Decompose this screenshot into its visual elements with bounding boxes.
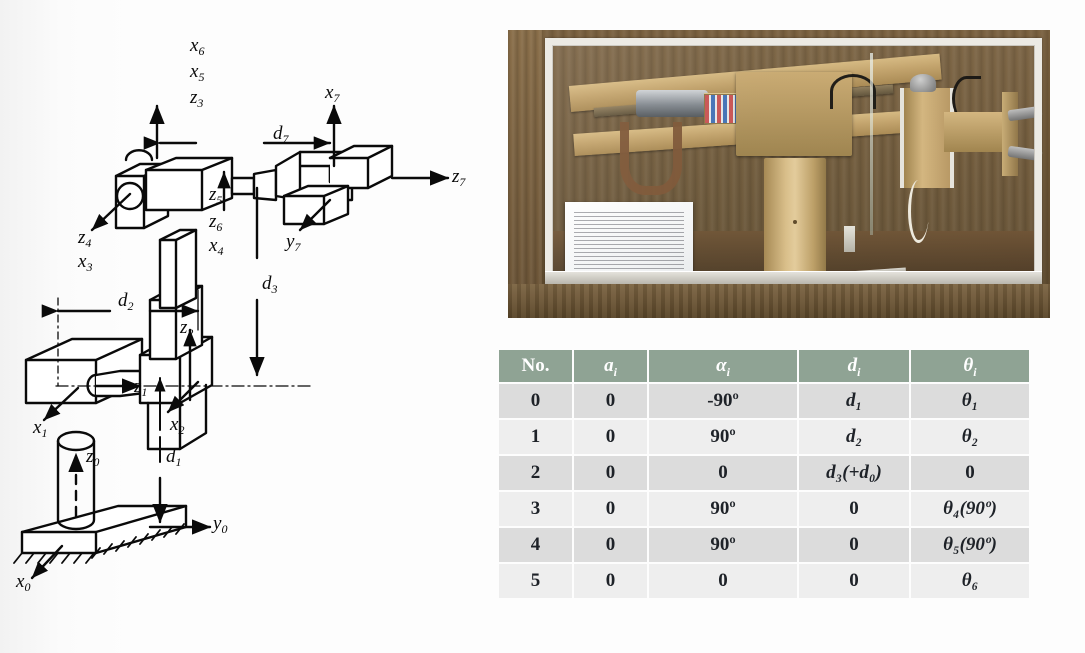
dimension-label-d2: d2 (118, 291, 134, 310)
cell-theta: θ₅(90º) (911, 528, 1029, 562)
cell-alpha: 0 (649, 564, 797, 598)
cell-d: 0 (799, 492, 909, 526)
axis-label-x5: x5 (190, 62, 204, 81)
table-row: 2 0 0 d₃(+d₀) 0 (499, 456, 1029, 490)
cell-d: d₃(+d₀) (799, 456, 909, 490)
axis-label-z4: z4 (78, 228, 91, 247)
cell-d: 0 (799, 528, 909, 562)
table-row: 3 0 90º 0 θ₄(90º) (499, 492, 1029, 526)
cell-no: 1 (499, 420, 572, 454)
kinematic-diagram: x6 x5 z3 d7 x7 z7 y7 z5 z6 x4 z4 x3 d3 d… (0, 0, 470, 653)
cell-alpha: 90º (649, 528, 797, 562)
axis-label-z6: z6 (209, 212, 222, 231)
cell-theta: θ₂ (911, 420, 1029, 454)
axis-label-x6: x6 (190, 36, 204, 55)
stanford-arm-museum-photo: 1969 (508, 30, 1050, 318)
dimension-label-d1: d1 (166, 447, 182, 466)
cell-a: 0 (574, 528, 647, 562)
column-header-no: No. (499, 350, 572, 382)
axis-label-z3: z3 (190, 88, 203, 107)
table-body: 0 0 -90º d₁ θ₁ 1 0 90º d₂ θ₂ 2 0 0 d₃(+d… (499, 384, 1029, 598)
figure-page: x6 x5 z3 d7 x7 z7 y7 z5 z6 x4 z4 x3 d3 d… (0, 0, 1085, 653)
column-header-a: ai (574, 350, 647, 382)
cell-no: 0 (499, 384, 572, 418)
dimension-label-d7: d7 (273, 124, 289, 143)
table-row: 4 0 90º 0 θ₅(90º) (499, 528, 1029, 562)
cell-no: 4 (499, 528, 572, 562)
cell-alpha: 90º (649, 420, 797, 454)
axis-label-x2: x2 (170, 415, 184, 434)
table-row: 0 0 -90º d₁ θ₁ (499, 384, 1029, 418)
axis-label-z0: z0 (86, 447, 99, 466)
cell-d: d₂ (799, 420, 909, 454)
axis-label-x7: x7 (325, 83, 339, 102)
cell-d: 0 (799, 564, 909, 598)
axis-label-z1: z1 (134, 377, 147, 396)
cell-a: 0 (574, 456, 647, 490)
cell-a: 0 (574, 492, 647, 526)
cell-alpha: -90º (649, 384, 797, 418)
denavit-hartenberg-parameter-table: No. ai αi di θi 0 0 -90º d₁ θ₁ 1 0 90º d… (497, 348, 1031, 600)
axis-label-x0: x0 (16, 572, 30, 591)
column-header-theta: θi (911, 350, 1029, 382)
cell-no: 2 (499, 456, 572, 490)
cell-alpha: 0 (649, 456, 797, 490)
axis-label-x3: x3 (78, 252, 92, 271)
glass-panel-divider (870, 53, 873, 235)
cell-no: 5 (499, 564, 572, 598)
table-header-row: No. ai αi di θi (499, 350, 1029, 382)
axis-label-y0: y0 (213, 514, 227, 533)
cell-no: 3 (499, 492, 572, 526)
cell-d: d₁ (799, 384, 909, 418)
axis-label-y7: y7 (286, 232, 300, 251)
axis-label-z7: z7 (452, 167, 465, 186)
cell-theta: 0 (911, 456, 1029, 490)
axis-label-z5: z5 (209, 185, 222, 204)
kinematic-diagram-svg (0, 0, 470, 653)
cell-a: 0 (574, 420, 647, 454)
axis-label-x4: x4 (209, 236, 223, 255)
display-case-bottom-rail (545, 271, 1042, 284)
cell-theta: θ₄(90º) (911, 492, 1029, 526)
cabinet-base (508, 284, 1050, 318)
table-row: 5 0 0 0 θ₆ (499, 564, 1029, 598)
column-header-d: di (799, 350, 909, 382)
cell-alpha: 90º (649, 492, 797, 526)
display-case-frame (545, 38, 1042, 284)
cell-a: 0 (574, 564, 647, 598)
cabinet-left-panel (508, 30, 542, 318)
cell-theta: θ₆ (911, 564, 1029, 598)
column-header-alpha: αi (649, 350, 797, 382)
dimension-label-d3: d3 (262, 274, 278, 293)
axis-label-z2: z2 (180, 318, 193, 337)
table-row: 1 0 90º d₂ θ₂ (499, 420, 1029, 454)
cell-theta: θ₁ (911, 384, 1029, 418)
axis-label-x1: x1 (33, 418, 47, 437)
display-case-glass (552, 45, 1035, 277)
cell-a: 0 (574, 384, 647, 418)
